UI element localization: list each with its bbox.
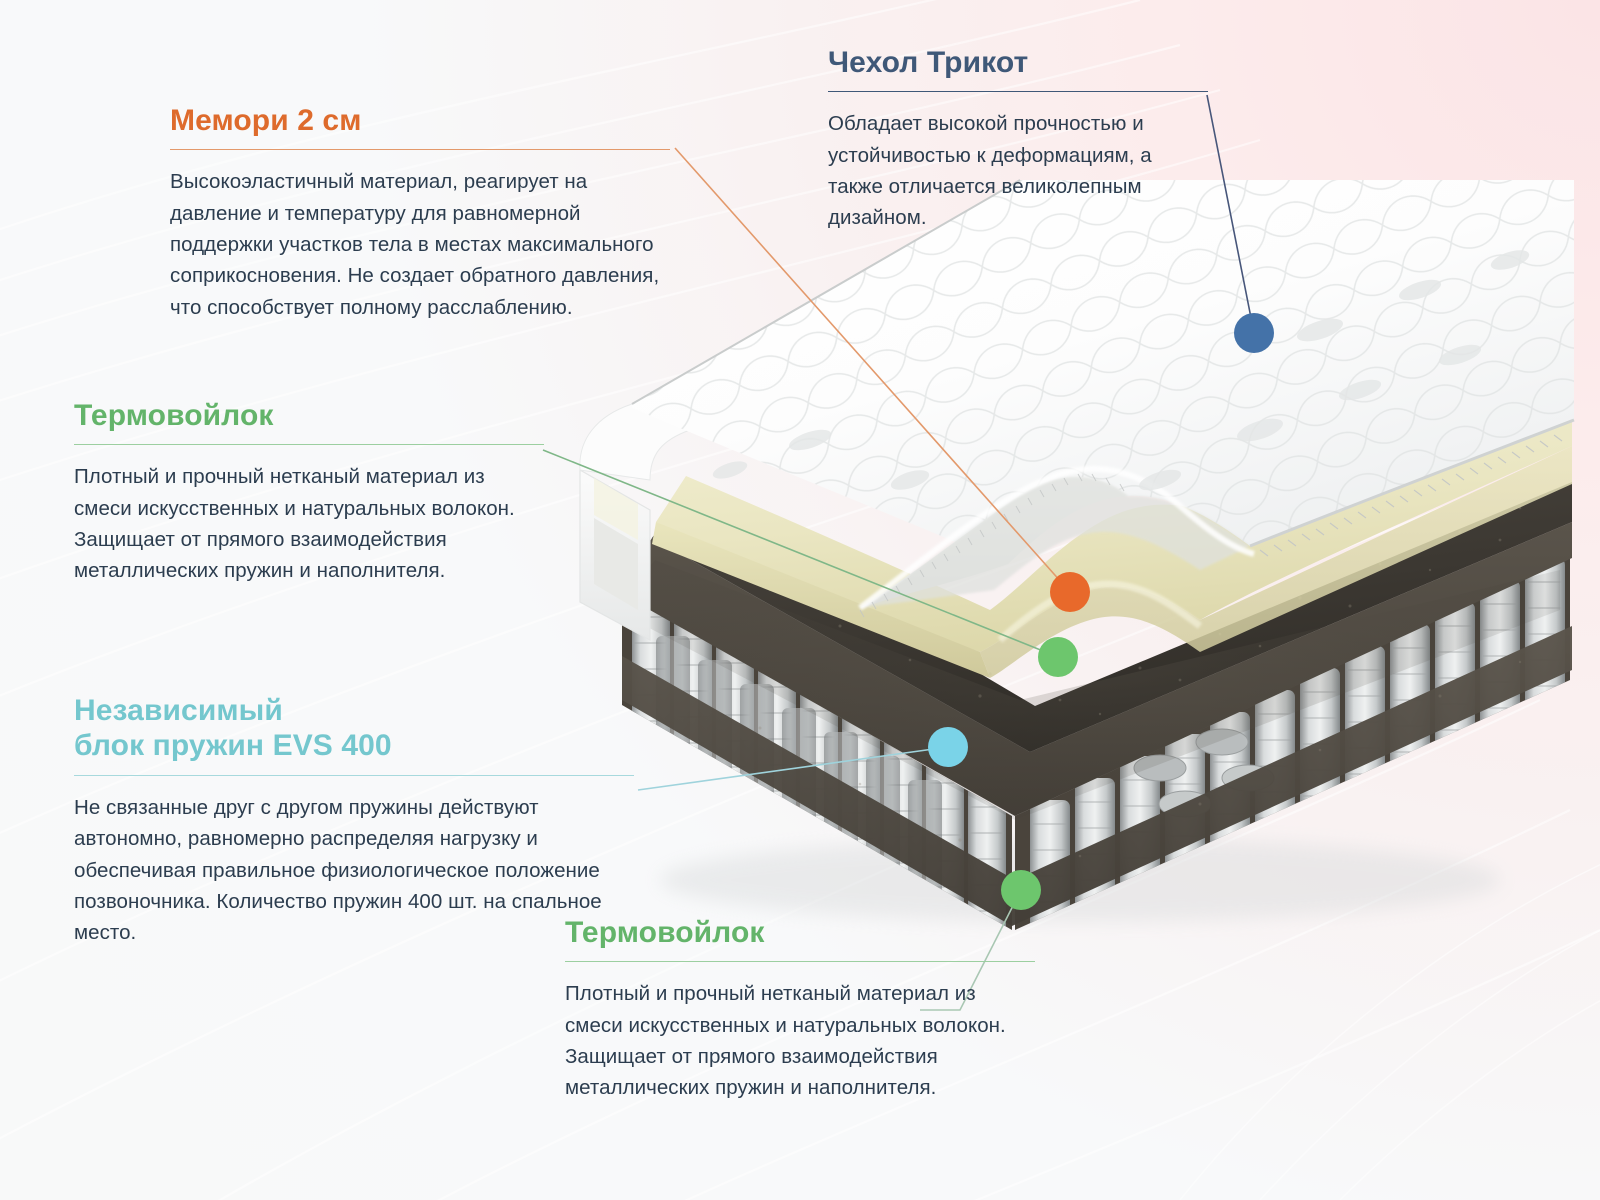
callout-felt-bottom-body: Плотный и прочный нетканый материал из с… — [565, 978, 1035, 1103]
callout-springs-title-line2: блок пружин EVS 400 — [74, 729, 392, 762]
callout-memori-body: Высокоэластичный материал, реагирует на … — [170, 166, 670, 323]
callout-springs-rule — [74, 775, 634, 776]
callout-felt-bottom-rule — [565, 961, 1035, 962]
mattress-cutaway-illustration — [560, 140, 1600, 940]
callout-cover-title: Чехол Трикот — [828, 45, 1208, 80]
callout-cover-rule — [828, 91, 1208, 92]
callout-felt-bottom-title: Термовойлок — [565, 915, 1035, 950]
callout-cover: Чехол Трикот Обладает высокой прочностью… — [828, 45, 1208, 234]
callout-springs-body: Не связанные друг с другом пружины дейст… — [74, 792, 634, 949]
callout-memori-rule — [170, 149, 670, 150]
callout-felt-bottom: Термовойлок Плотный и прочный нетканый м… — [565, 915, 1035, 1104]
marker-dot-felt-top — [1038, 637, 1078, 677]
callout-felt-top-title: Термовойлок — [74, 398, 544, 433]
callout-cover-body: Обладает высокой прочностью и устойчивос… — [828, 108, 1208, 233]
marker-dot-memori — [1050, 572, 1090, 612]
callout-felt-top-body: Плотный и прочный нетканый материал из с… — [74, 461, 544, 586]
callout-felt-top-rule — [74, 444, 544, 445]
marker-dot-springs — [928, 727, 968, 767]
callout-springs-title-line1: Независимый — [74, 694, 283, 727]
callout-springs: Независимыйблок пружин EVS 400 Не связан… — [74, 693, 634, 949]
callout-memori-title: Мемори 2 см — [170, 103, 670, 138]
callout-memori: Мемори 2 см Высокоэластичный материал, р… — [170, 103, 670, 323]
callout-springs-title: Независимыйблок пружин EVS 400 — [74, 693, 634, 764]
marker-dot-cover — [1234, 313, 1274, 353]
callout-felt-top: Термовойлок Плотный и прочный нетканый м… — [74, 398, 544, 587]
marker-dot-felt-bottom — [1001, 870, 1041, 910]
